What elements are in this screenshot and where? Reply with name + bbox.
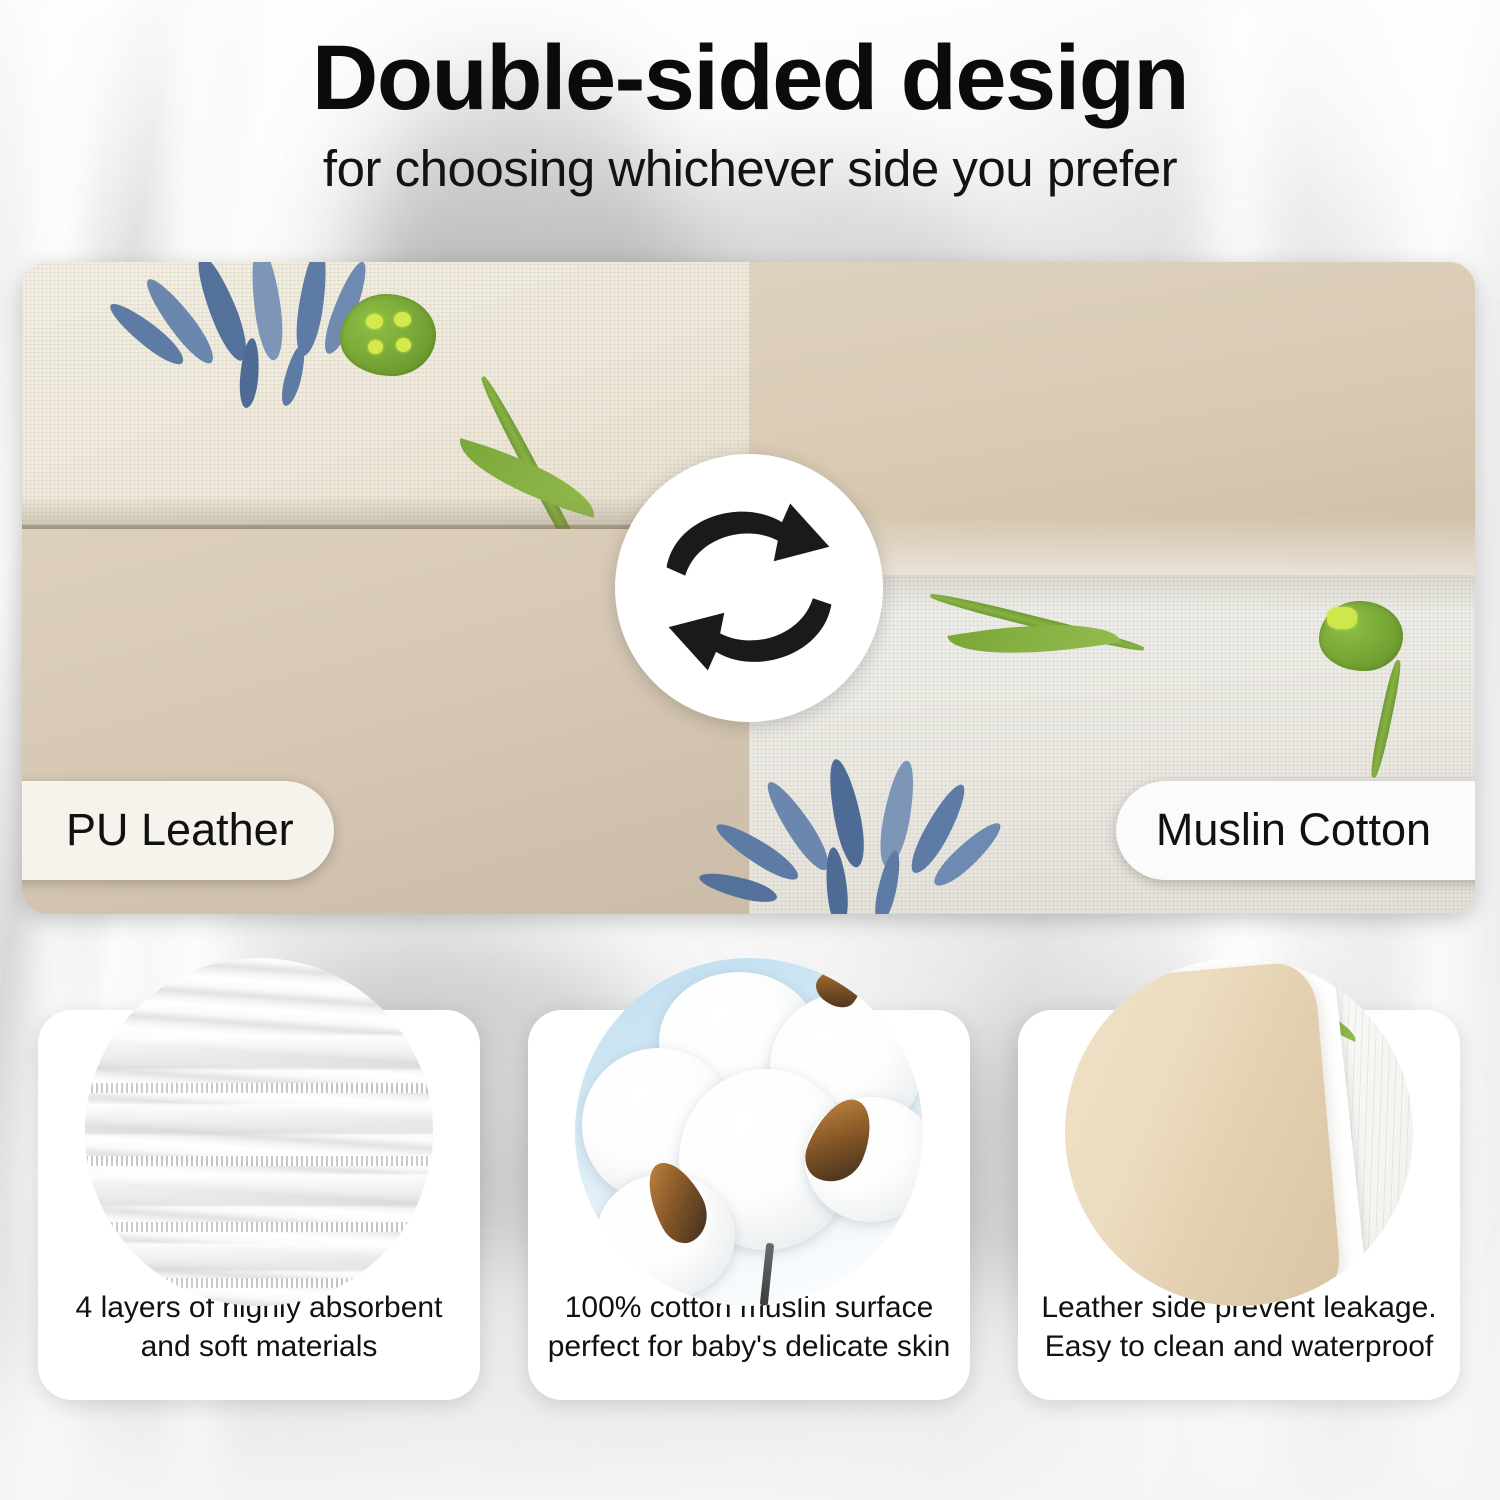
bud-highlight-dot xyxy=(366,314,383,329)
flower-petal xyxy=(871,849,904,914)
bud-highlight-dot xyxy=(396,338,411,352)
page-subtitle: for choosing whichever side you prefer xyxy=(0,127,1500,197)
flower-bud-group xyxy=(1301,593,1471,743)
bud-highlight-dot xyxy=(368,340,383,354)
gauze-layer-band xyxy=(85,1104,433,1134)
feature-card-absorbent-layers: 4 layers of highly absorbent and soft ma… xyxy=(38,1010,480,1400)
cornflower-embroidery xyxy=(142,262,472,402)
bud-highlight-dot xyxy=(394,312,411,327)
gauze-layer-band xyxy=(85,1174,433,1206)
quadrant-muslin-top-left xyxy=(22,262,749,529)
feature-card-row: 4 layers of highly absorbent and soft ma… xyxy=(0,950,1500,1470)
gauze-fringe-edge xyxy=(85,1156,433,1166)
cotton-bolls-photo xyxy=(575,958,923,1306)
folded-leather-backing-photo xyxy=(1065,958,1413,1306)
feature-card-leather-waterproof: Leather side prevent leakage. Easy to cl… xyxy=(1018,1010,1460,1400)
material-label-muslin-cotton: Muslin Cotton xyxy=(1116,781,1475,880)
gauze-fringe-edge xyxy=(85,1278,433,1288)
pu-leather-underside xyxy=(1065,960,1344,1306)
gauze-layer-band xyxy=(85,1035,433,1069)
gauze-fringe-edge xyxy=(85,1222,433,1232)
gauze-fringe-edge xyxy=(85,1083,433,1093)
page-title: Double-sided design xyxy=(0,0,1500,127)
gauze-layer-band xyxy=(85,1243,433,1271)
flower-petal xyxy=(278,344,309,408)
header: Double-sided design for choosing whichev… xyxy=(0,0,1500,250)
feature-card-cotton-muslin: 100% cotton muslin surface perfect for b… xyxy=(528,1010,970,1400)
bud-highlight-dot xyxy=(1327,607,1357,629)
double-sided-comparison-panel: PU Leather Muslin Cotton xyxy=(22,262,1475,914)
cornflower-embroidery xyxy=(759,751,1019,914)
infographic-page: Double-sided design for choosing whichev… xyxy=(0,0,1500,1500)
swap-badge xyxy=(615,454,883,722)
material-label-pu-leather: PU Leather xyxy=(22,781,334,880)
flower-bud xyxy=(340,294,436,376)
layered-gauze-fabric-photo xyxy=(85,958,433,1306)
swap-arrows-icon xyxy=(646,485,852,691)
